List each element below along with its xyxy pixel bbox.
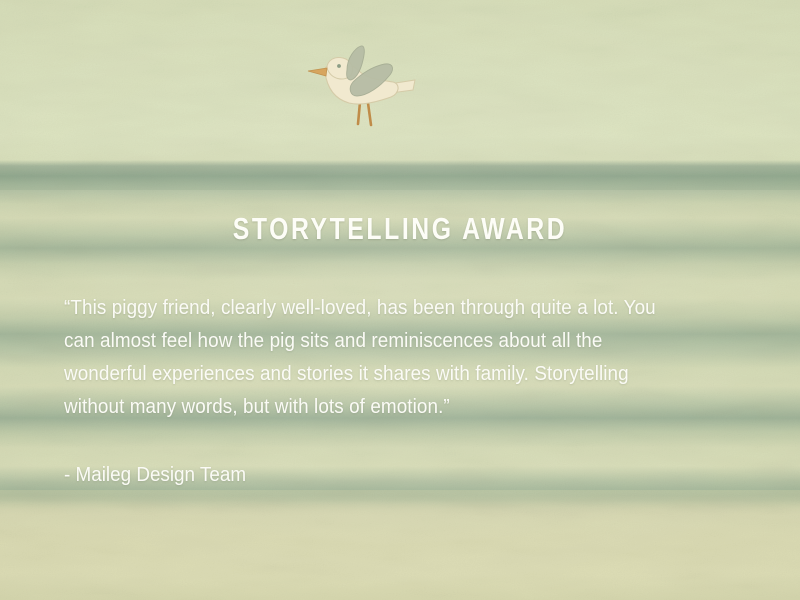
seagull-icon <box>303 38 423 128</box>
quote-attribution: - Maileg Design Team <box>64 461 246 489</box>
quote-block: “This piggy friend, clearly well-loved, … <box>64 291 724 423</box>
gull-leg-left <box>358 102 360 124</box>
award-slide: STORYTELLING AWARD “This piggy friend, c… <box>0 0 800 600</box>
wave-edge-layer <box>0 492 800 514</box>
page-title: STORYTELLING AWARD <box>80 213 720 244</box>
gull-eye <box>337 64 341 68</box>
gull-leg-right <box>368 103 371 125</box>
sand-layer <box>0 490 800 600</box>
gull-beak <box>308 68 327 76</box>
quote-text: “This piggy friend, clearly well-loved, … <box>64 291 671 423</box>
